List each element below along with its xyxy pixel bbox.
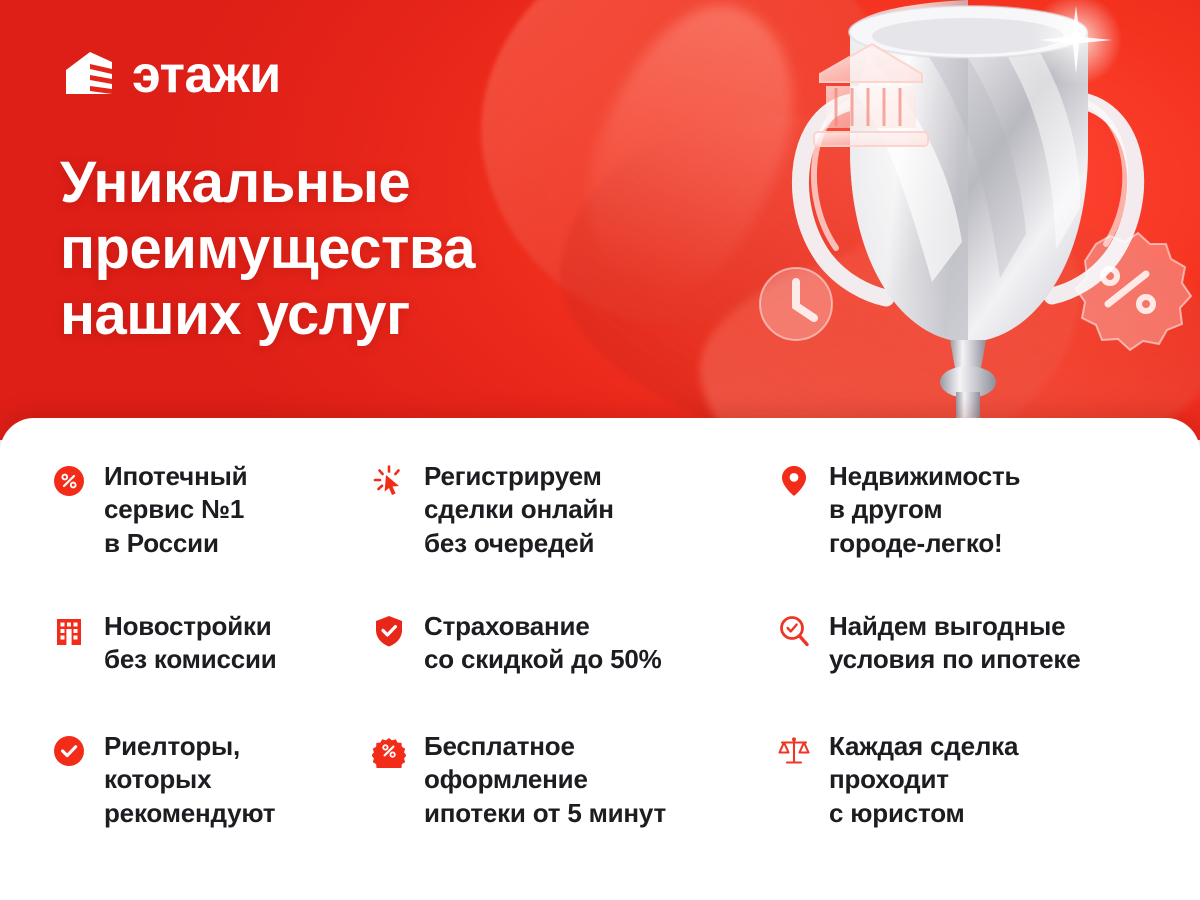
feature-line: условия по ипотеке — [829, 643, 1081, 676]
feature-text: Найдем выгодные условия по ипотеке — [829, 610, 1081, 677]
percent-badge-icon — [1076, 233, 1191, 350]
headline-line: Уникальные — [60, 150, 475, 216]
features-grid: Ипотечный сервис №1 в России — [52, 460, 1152, 830]
features-card: Ипотечный сервис №1 в России — [0, 418, 1200, 900]
feature-text: Регистрируем сделки онлайн без очередей — [424, 460, 614, 560]
feature-line: городе-легко! — [829, 527, 1020, 560]
feature-text: Ипотечный сервис №1 в России — [104, 460, 247, 560]
feature-line: Страхование — [424, 610, 662, 643]
feature-line: Найдем выгодные — [829, 610, 1081, 643]
feature-line: рекомендуют — [104, 797, 275, 830]
building-logo-icon — [62, 48, 116, 102]
click-cursor-icon — [372, 464, 406, 498]
page-title: Уникальные преимущества наших услуг — [60, 150, 475, 348]
trophy-illustration — [700, 0, 1200, 440]
feature-item-mortgage-service: Ипотечный сервис №1 в России — [52, 460, 372, 610]
shield-check-icon — [372, 614, 406, 648]
map-pin-icon — [777, 464, 811, 498]
feature-item-lawyer: Каждая сделка проходит с юристом — [777, 730, 1152, 830]
feature-line: сделки онлайн — [424, 493, 614, 526]
headline-line: преимущества — [60, 216, 475, 282]
feature-line: со скидкой до 50% — [424, 643, 662, 676]
feature-line: Недвижимость — [829, 460, 1020, 493]
hero-section: этажи Уникальные преимущества наших услу… — [0, 0, 1200, 440]
promo-banner: этажи Уникальные преимущества наших услу… — [0, 0, 1200, 900]
feature-item-new-buildings: Новостройки без комиссии — [52, 610, 372, 730]
check-circle-icon — [52, 734, 86, 768]
brand-logo[interactable]: этажи — [62, 48, 281, 102]
percent-badge-icon — [372, 734, 406, 768]
feature-text: Новостройки без комиссии — [104, 610, 277, 677]
feature-item-free-registration: Бесплатное оформление ипотеки от 5 минут — [372, 730, 777, 830]
feature-line: Регистрируем — [424, 460, 614, 493]
feature-item-insurance: Страхование со скидкой до 50% — [372, 610, 777, 730]
clock-icon — [760, 268, 832, 340]
apartment-building-icon — [52, 614, 86, 648]
brand-name: этажи — [132, 49, 281, 101]
feature-line: сервис №1 — [104, 493, 247, 526]
feature-line: без комиссии — [104, 643, 277, 676]
headline-line: наших услуг — [60, 282, 475, 348]
feature-text: Недвижимость в другом городе-легко! — [829, 460, 1020, 560]
feature-line: без очередей — [424, 527, 614, 560]
feature-line: с юристом — [829, 797, 1018, 830]
feature-line: Ипотечный — [104, 460, 247, 493]
search-check-icon — [777, 614, 811, 648]
scales-justice-icon — [777, 734, 811, 768]
feature-line: проходит — [829, 763, 1018, 796]
feature-line: которых — [104, 763, 275, 796]
feature-line: в другом — [829, 493, 1020, 526]
feature-line: оформление — [424, 763, 666, 796]
feature-text: Страхование со скидкой до 50% — [424, 610, 662, 677]
feature-line: Новостройки — [104, 610, 277, 643]
feature-line: Каждая сделка — [829, 730, 1018, 763]
percent-circle-icon — [52, 464, 86, 498]
feature-text: Риелторы, которых рекомендуют — [104, 730, 275, 830]
feature-text: Каждая сделка проходит с юристом — [829, 730, 1018, 830]
feature-item-mortgage-conditions: Найдем выгодные условия по ипотеке — [777, 610, 1152, 730]
feature-line: ипотеки от 5 минут — [424, 797, 666, 830]
feature-line: Бесплатное — [424, 730, 666, 763]
feature-text: Бесплатное оформление ипотеки от 5 минут — [424, 730, 666, 830]
feature-item-other-city: Недвижимость в другом городе-легко! — [777, 460, 1152, 610]
feature-item-online-deals: Регистрируем сделки онлайн без очередей — [372, 460, 777, 610]
feature-line: в России — [104, 527, 247, 560]
feature-item-realtors: Риелторы, которых рекомендуют — [52, 730, 372, 830]
feature-line: Риелторы, — [104, 730, 275, 763]
